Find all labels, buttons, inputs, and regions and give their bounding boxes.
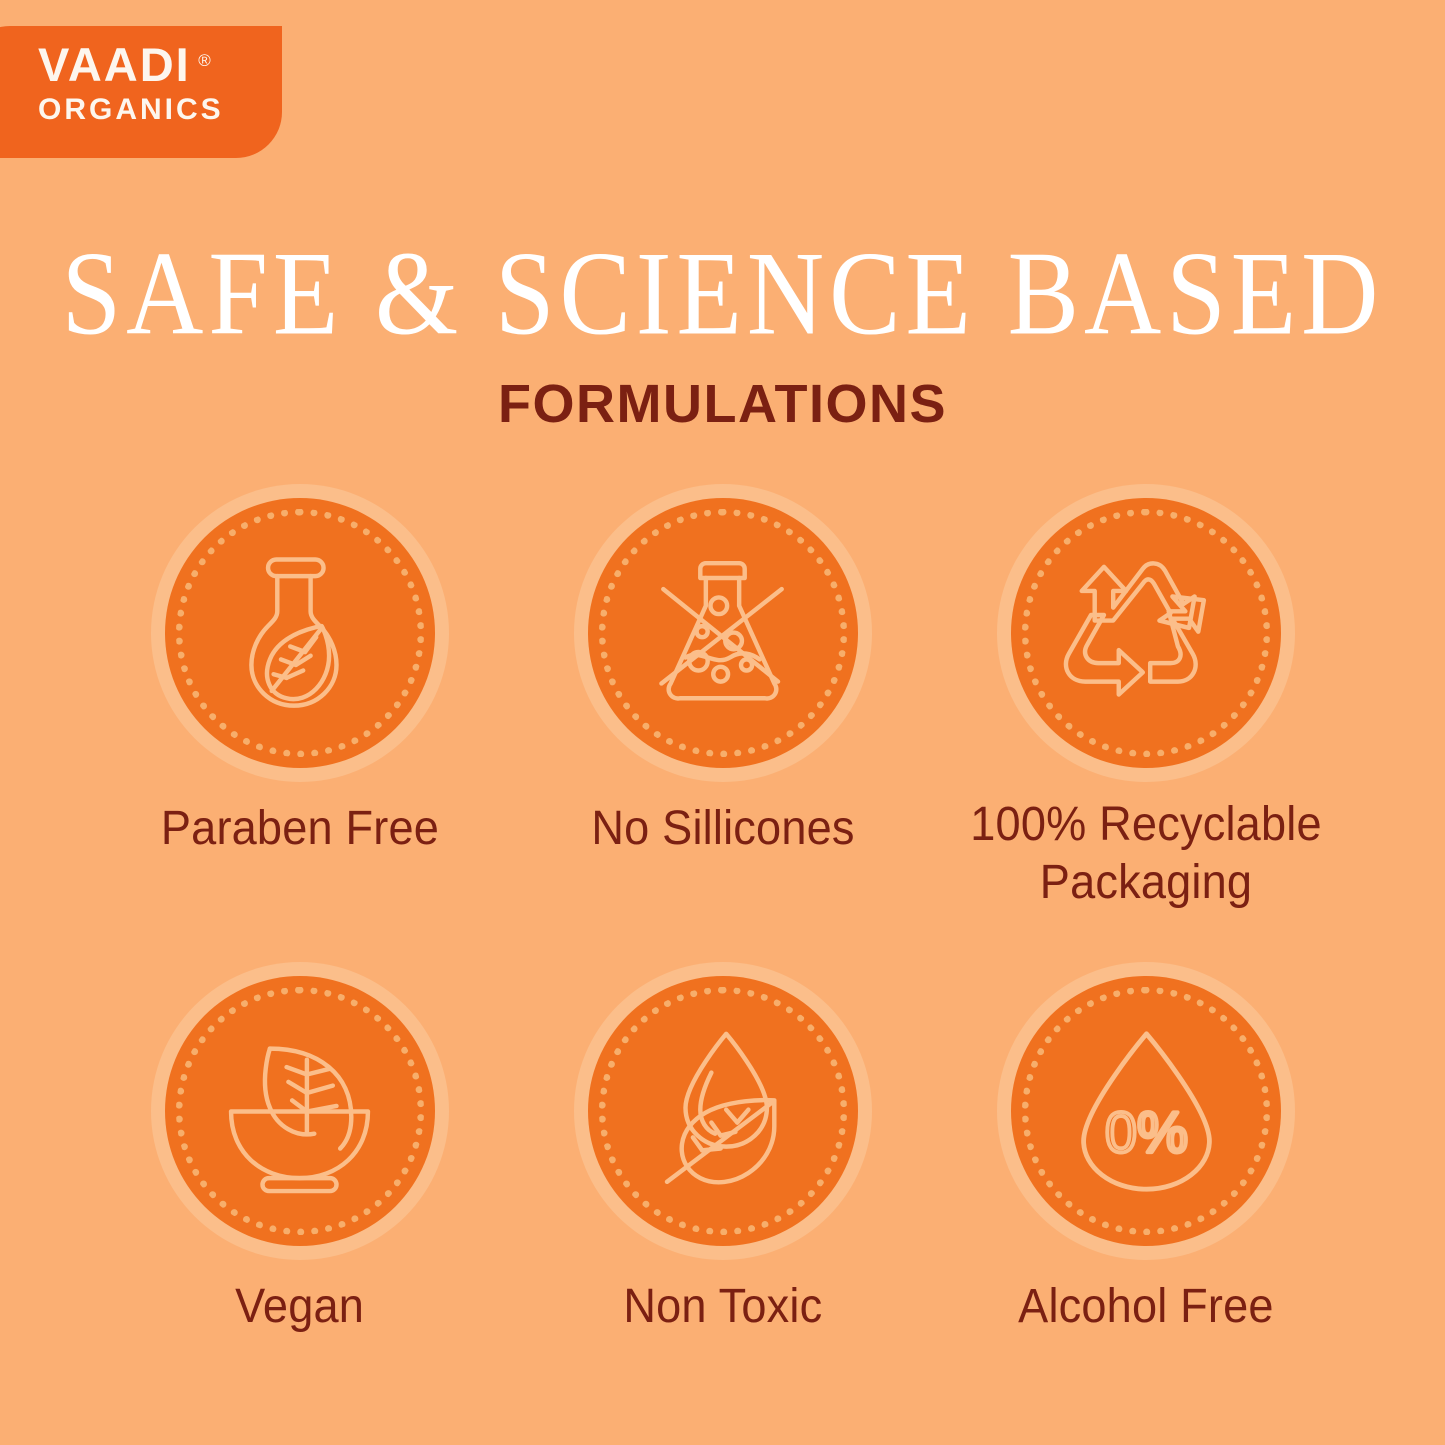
badge-circle bbox=[997, 484, 1295, 782]
brand-tagline: ORGANICS bbox=[38, 92, 282, 128]
badge-circle bbox=[574, 962, 872, 1260]
recycle-arrows-icon bbox=[1054, 541, 1239, 726]
brand-name-text: VAADI bbox=[38, 38, 191, 91]
badge-circle: 0% bbox=[997, 962, 1295, 1260]
erlenmeyer-flask-crossed-out-icon bbox=[630, 541, 815, 726]
benefit-item-vegan: Vegan bbox=[88, 962, 511, 1336]
benefit-label: Alcohol Free bbox=[1019, 1278, 1275, 1336]
brand-name: VAADI® bbox=[38, 40, 191, 90]
droplet-leaf-icon bbox=[630, 1019, 815, 1204]
benefit-label: Paraben Free bbox=[161, 800, 439, 858]
benefit-label: Vegan bbox=[235, 1278, 364, 1336]
brand-logo: VAADI® ORGANICS bbox=[0, 26, 282, 158]
benefit-label: 100% Recyclable Packaging bbox=[958, 796, 1334, 912]
badge-circle bbox=[151, 962, 449, 1260]
benefit-item-recyclable-packaging: 100% Recyclable Packaging bbox=[935, 484, 1358, 912]
badge-circle bbox=[151, 484, 449, 782]
benefit-item-non-toxic: Non Toxic bbox=[511, 962, 934, 1336]
flask-leaf-icon bbox=[207, 541, 392, 726]
benefit-item-paraben-free: Paraben Free bbox=[88, 484, 511, 912]
benefit-item-no-sillicones: No Sillicones bbox=[511, 484, 934, 912]
zero-percent-text: 0% bbox=[1105, 1101, 1188, 1165]
bowl-leaf-icon bbox=[207, 1019, 392, 1204]
registered-trademark-icon: ® bbox=[198, 36, 211, 86]
page-subheadline: FORMULATIONS bbox=[0, 374, 1445, 434]
page-headline: SAFE & SCIENCE BASED bbox=[0, 228, 1445, 360]
badge-circle bbox=[574, 484, 872, 782]
promo-infographic: { "brand": { "name": "VAADI", "registere… bbox=[0, 0, 1445, 1445]
benefit-label: Non Toxic bbox=[623, 1278, 822, 1336]
droplet-zero-percent-icon: 0% bbox=[1054, 1019, 1239, 1204]
benefit-item-alcohol-free: 0% Alcohol Free bbox=[935, 962, 1358, 1336]
benefit-badge-grid: Paraben Free bbox=[88, 484, 1358, 1336]
benefit-label: No Sillicones bbox=[591, 800, 854, 858]
